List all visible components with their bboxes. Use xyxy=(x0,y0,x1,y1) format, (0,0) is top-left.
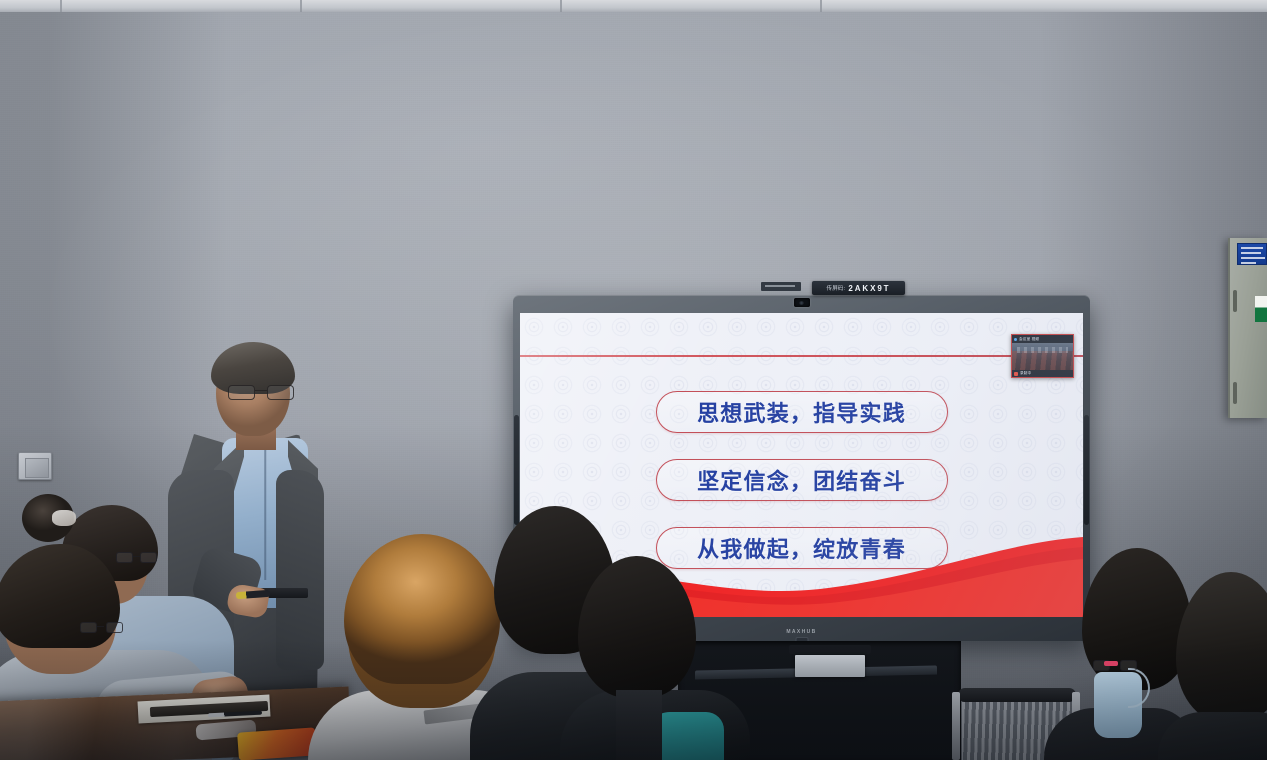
display-brand-logo: MAXHUB xyxy=(786,629,816,635)
presenter-arm-right xyxy=(276,470,324,670)
cabinet-green-marker xyxy=(1255,296,1267,322)
mount-media-box xyxy=(795,655,865,677)
bezel-side-tag xyxy=(761,282,801,291)
glasses-accent xyxy=(1104,661,1118,666)
cabinet-warning-label xyxy=(1237,243,1267,265)
hair-tie xyxy=(52,510,76,526)
cabinet-hinge-top xyxy=(1233,290,1237,312)
chair-backrest xyxy=(958,688,1076,702)
speaker-left xyxy=(514,415,519,525)
speaker-right xyxy=(1084,415,1089,525)
glasses-icon xyxy=(80,622,123,634)
glasses-icon xyxy=(228,385,294,400)
screen-share-code-chip: 传屏码: 2AKX9T xyxy=(812,281,905,295)
lecture-room-scene: 会议室 视频 录制中 思想武装，指导实践 坚定信念，团结奋斗 xyxy=(0,0,1267,760)
chair-backrest-2 xyxy=(616,690,662,760)
share-code-label: 传屏码: xyxy=(827,284,846,292)
cabinet-hinge-bottom xyxy=(1233,382,1237,404)
camera-icon xyxy=(794,298,810,307)
wall-switch-plate[interactable] xyxy=(18,452,52,480)
snack-package xyxy=(237,727,317,760)
chair-frame-left xyxy=(952,692,960,760)
mount-strip xyxy=(789,645,871,654)
share-code-value: 2AKX9T xyxy=(848,284,890,293)
glasses-icon xyxy=(116,552,157,563)
